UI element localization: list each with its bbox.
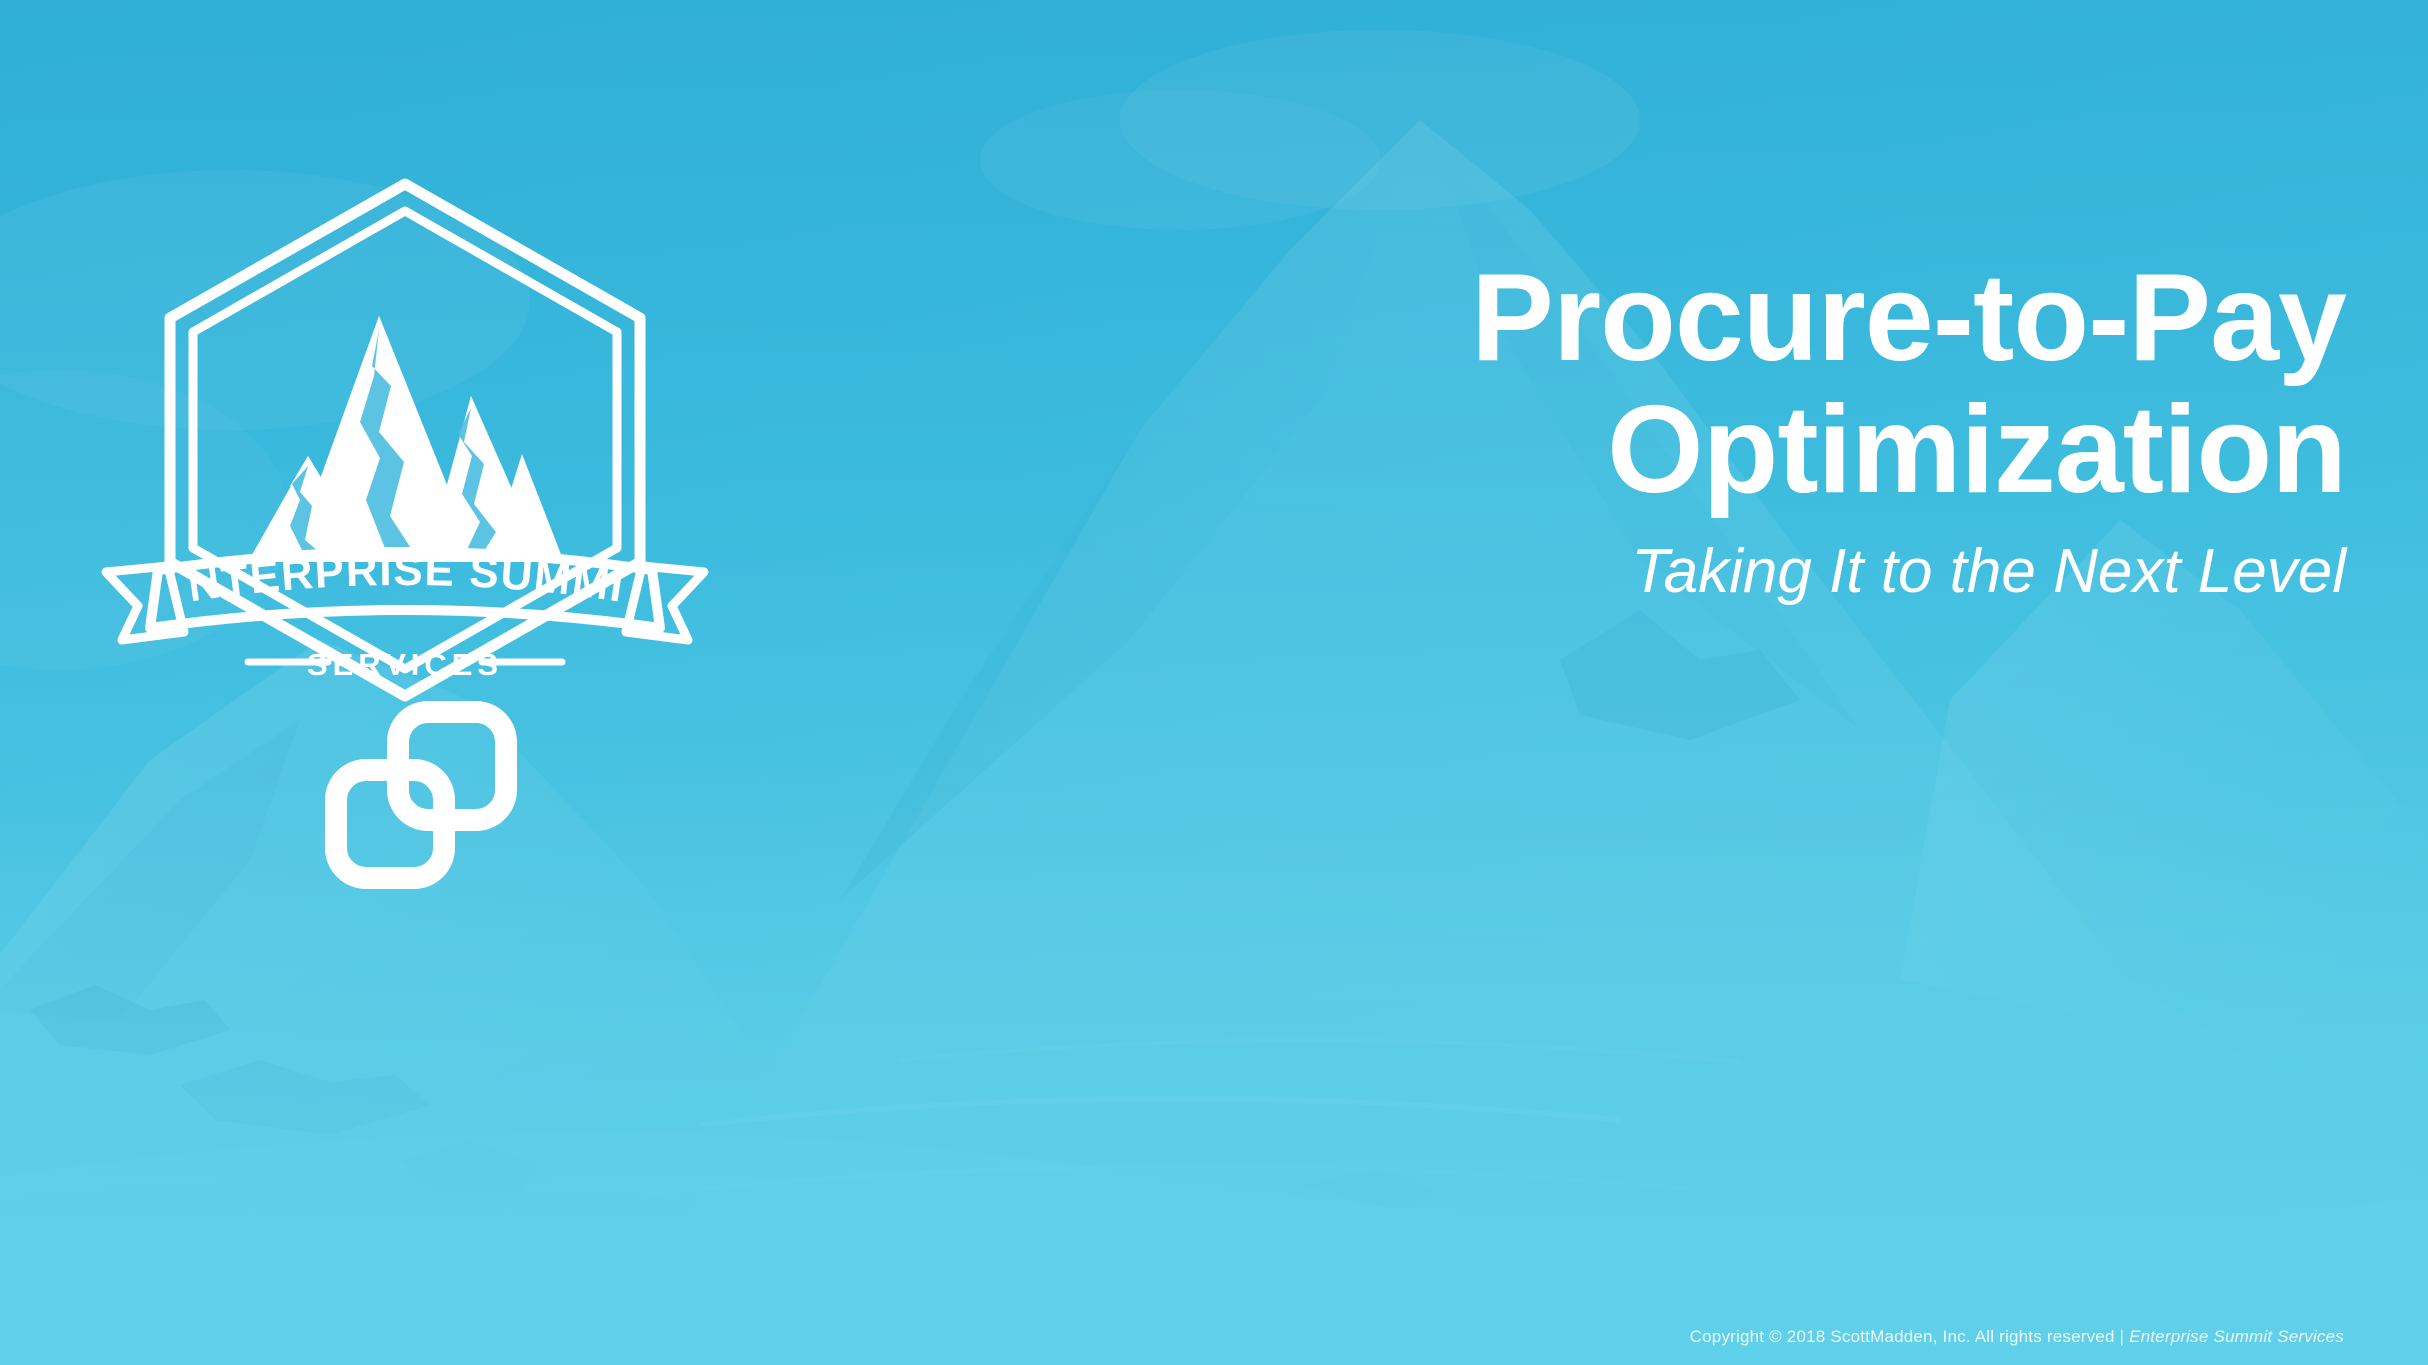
- copyright-brand: Enterprise Summit Services: [2129, 1327, 2344, 1346]
- page-subtitle: Taking It to the Next Level: [706, 538, 2346, 606]
- title-block: Procure-to-Pay Optimization Taking It to…: [706, 256, 2346, 606]
- services-label: SERVICES: [307, 647, 503, 682]
- copyright-text: Copyright © 2018 ScottMadden, Inc. All r…: [1690, 1327, 2129, 1346]
- badge-svg: ENTERPRISE SUMMIT SERVICES: [140, 170, 670, 710]
- badge-services-line: SERVICES: [248, 647, 562, 682]
- copyright-footer: Copyright © 2018 ScottMadden, Inc. All r…: [1690, 1327, 2344, 1347]
- enterprise-summit-services-logo: ENTERPRISE SUMMIT SERVICES: [140, 170, 670, 710]
- page-title-line-2: Optimization: [706, 388, 2346, 512]
- page-title-line-1: Procure-to-Pay: [706, 256, 2346, 380]
- title-slide: ENTERPRISE SUMMIT SERVICES Procure-to-Pa…: [0, 0, 2428, 1365]
